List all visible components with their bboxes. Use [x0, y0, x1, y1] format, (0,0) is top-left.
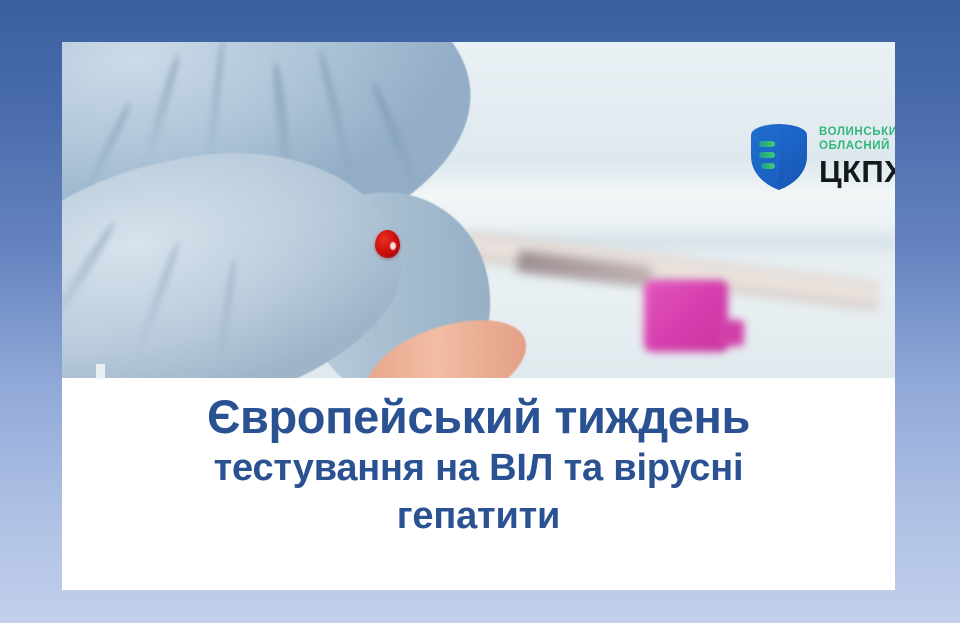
lancet-cap-tip: [718, 320, 744, 346]
headline-line-1: Європейський тиждень: [207, 392, 750, 443]
logo-acronym: ЦКПХ: [819, 156, 895, 187]
organization-logo: ВОЛИНСЬКИЙ ОБЛАСНИЙ ЦКПХ: [748, 112, 895, 202]
lancet-cap-icon: [644, 280, 728, 352]
logo-line-1: ВОЛИНСЬКИЙ: [819, 127, 895, 139]
logo-text-block: ВОЛИНСЬКИЙ ОБЛАСНИЙ ЦКПХ: [819, 127, 895, 187]
poster-canvas: ВОЛИНСЬКИЙ ОБЛАСНИЙ ЦКПХ Європейський ти…: [0, 0, 960, 623]
headline-line-3: гепатити: [397, 493, 560, 539]
logo-line-2: ОБЛАСНИЙ: [819, 141, 895, 153]
shield-icon: [748, 122, 810, 192]
gloved-hand-group: [62, 42, 532, 391]
panel-notch: [96, 364, 105, 380]
headline-line-2: тестування на ВІЛ та вірусні: [214, 445, 744, 491]
blood-drop-icon: [375, 230, 400, 258]
headline-panel: Європейський тиждень тестування на ВІЛ т…: [62, 378, 895, 590]
hero-photo: ВОЛИНСЬКИЙ ОБЛАСНИЙ ЦКПХ: [62, 42, 895, 391]
